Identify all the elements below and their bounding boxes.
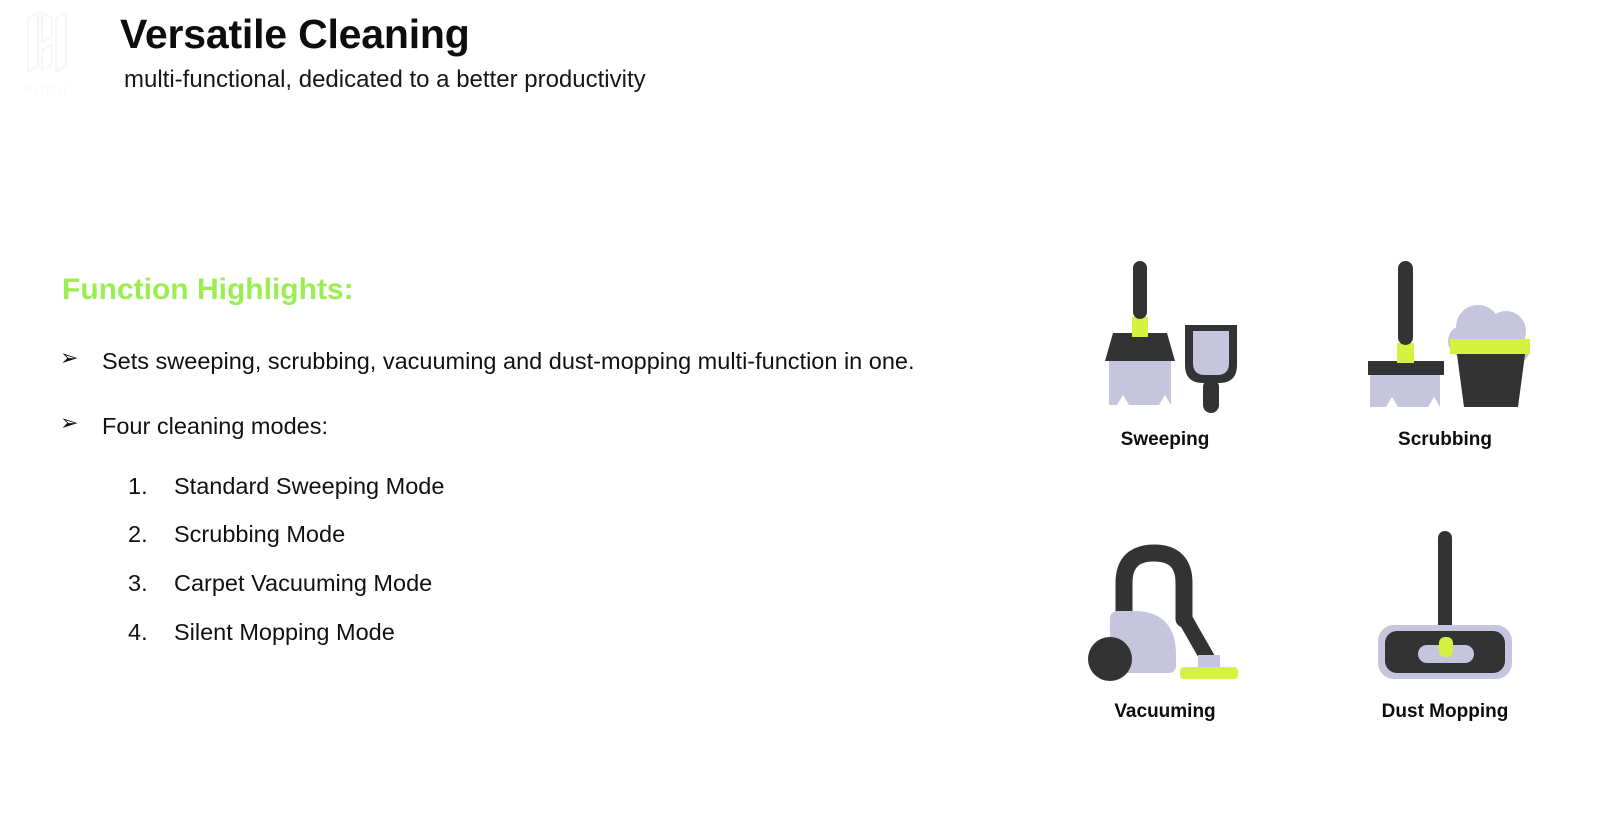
icon-cell-dust-mopping: Dust Mopping [1315, 527, 1575, 745]
list-item: 1. Standard Sweeping Mode [60, 471, 930, 502]
bullet-text-2: Four cleaning modes: [102, 405, 930, 448]
section-heading: Function Highlights: [62, 272, 930, 308]
bullet-item-1: ➢ Sets sweeping, scrubbing, vacuuming an… [60, 340, 930, 383]
list-item-number: 3. [128, 568, 174, 599]
icon-caption-scrubbing: Scrubbing [1398, 429, 1492, 452]
list-item: 2. Scrubbing Mode [60, 519, 930, 550]
canister-vacuum-icon [1080, 527, 1250, 687]
icon-caption-vacuuming: Vacuuming [1114, 701, 1215, 724]
arrow-bullet-icon: ➢ [60, 405, 102, 440]
arrow-bullet-icon: ➢ [60, 340, 102, 375]
page-title: Versatile Cleaning [120, 12, 1020, 58]
list-item-label: Scrubbing Mode [174, 519, 930, 550]
icon-cell-scrubbing: Scrubbing [1315, 255, 1575, 473]
page-subtitle: multi-functional, dedicated to a better … [124, 66, 1020, 95]
dust-mop-icon [1360, 527, 1530, 687]
icon-cell-sweeping: Sweeping [1035, 255, 1295, 473]
scrub-brush-and-bucket-icon [1360, 255, 1530, 415]
list-item-number: 2. [128, 519, 174, 550]
pudu-logo-watermark: PUDU [18, 6, 86, 102]
cleaning-modes-list: 1. Standard Sweeping Mode 2. Scrubbing M… [60, 471, 930, 647]
list-item-number: 4. [128, 617, 174, 648]
list-item-label: Standard Sweeping Mode [174, 471, 930, 502]
broom-and-dustpan-icon [1085, 255, 1245, 415]
bullet-item-2: ➢ Four cleaning modes: [60, 405, 930, 448]
list-item-label: Carpet Vacuuming Mode [174, 568, 930, 599]
list-item-number: 1. [128, 471, 174, 502]
cleaning-mode-icon-grid: Sweeping [1035, 255, 1575, 745]
icon-caption-sweeping: Sweeping [1121, 429, 1210, 452]
icon-cell-vacuuming: Vacuuming [1035, 527, 1295, 745]
icon-caption-dust-mopping: Dust Mopping [1382, 701, 1509, 724]
watermark-text: PUDU [24, 82, 69, 97]
list-item: 3. Carpet Vacuuming Mode [60, 568, 930, 599]
function-highlights-section: Function Highlights: ➢ Sets sweeping, sc… [60, 272, 930, 665]
list-item: 4. Silent Mopping Mode [60, 617, 930, 648]
list-item-label: Silent Mopping Mode [174, 617, 930, 648]
slide-header: Versatile Cleaning multi-functional, ded… [120, 12, 1020, 95]
bullet-text-1: Sets sweeping, scrubbing, vacuuming and … [102, 340, 930, 383]
